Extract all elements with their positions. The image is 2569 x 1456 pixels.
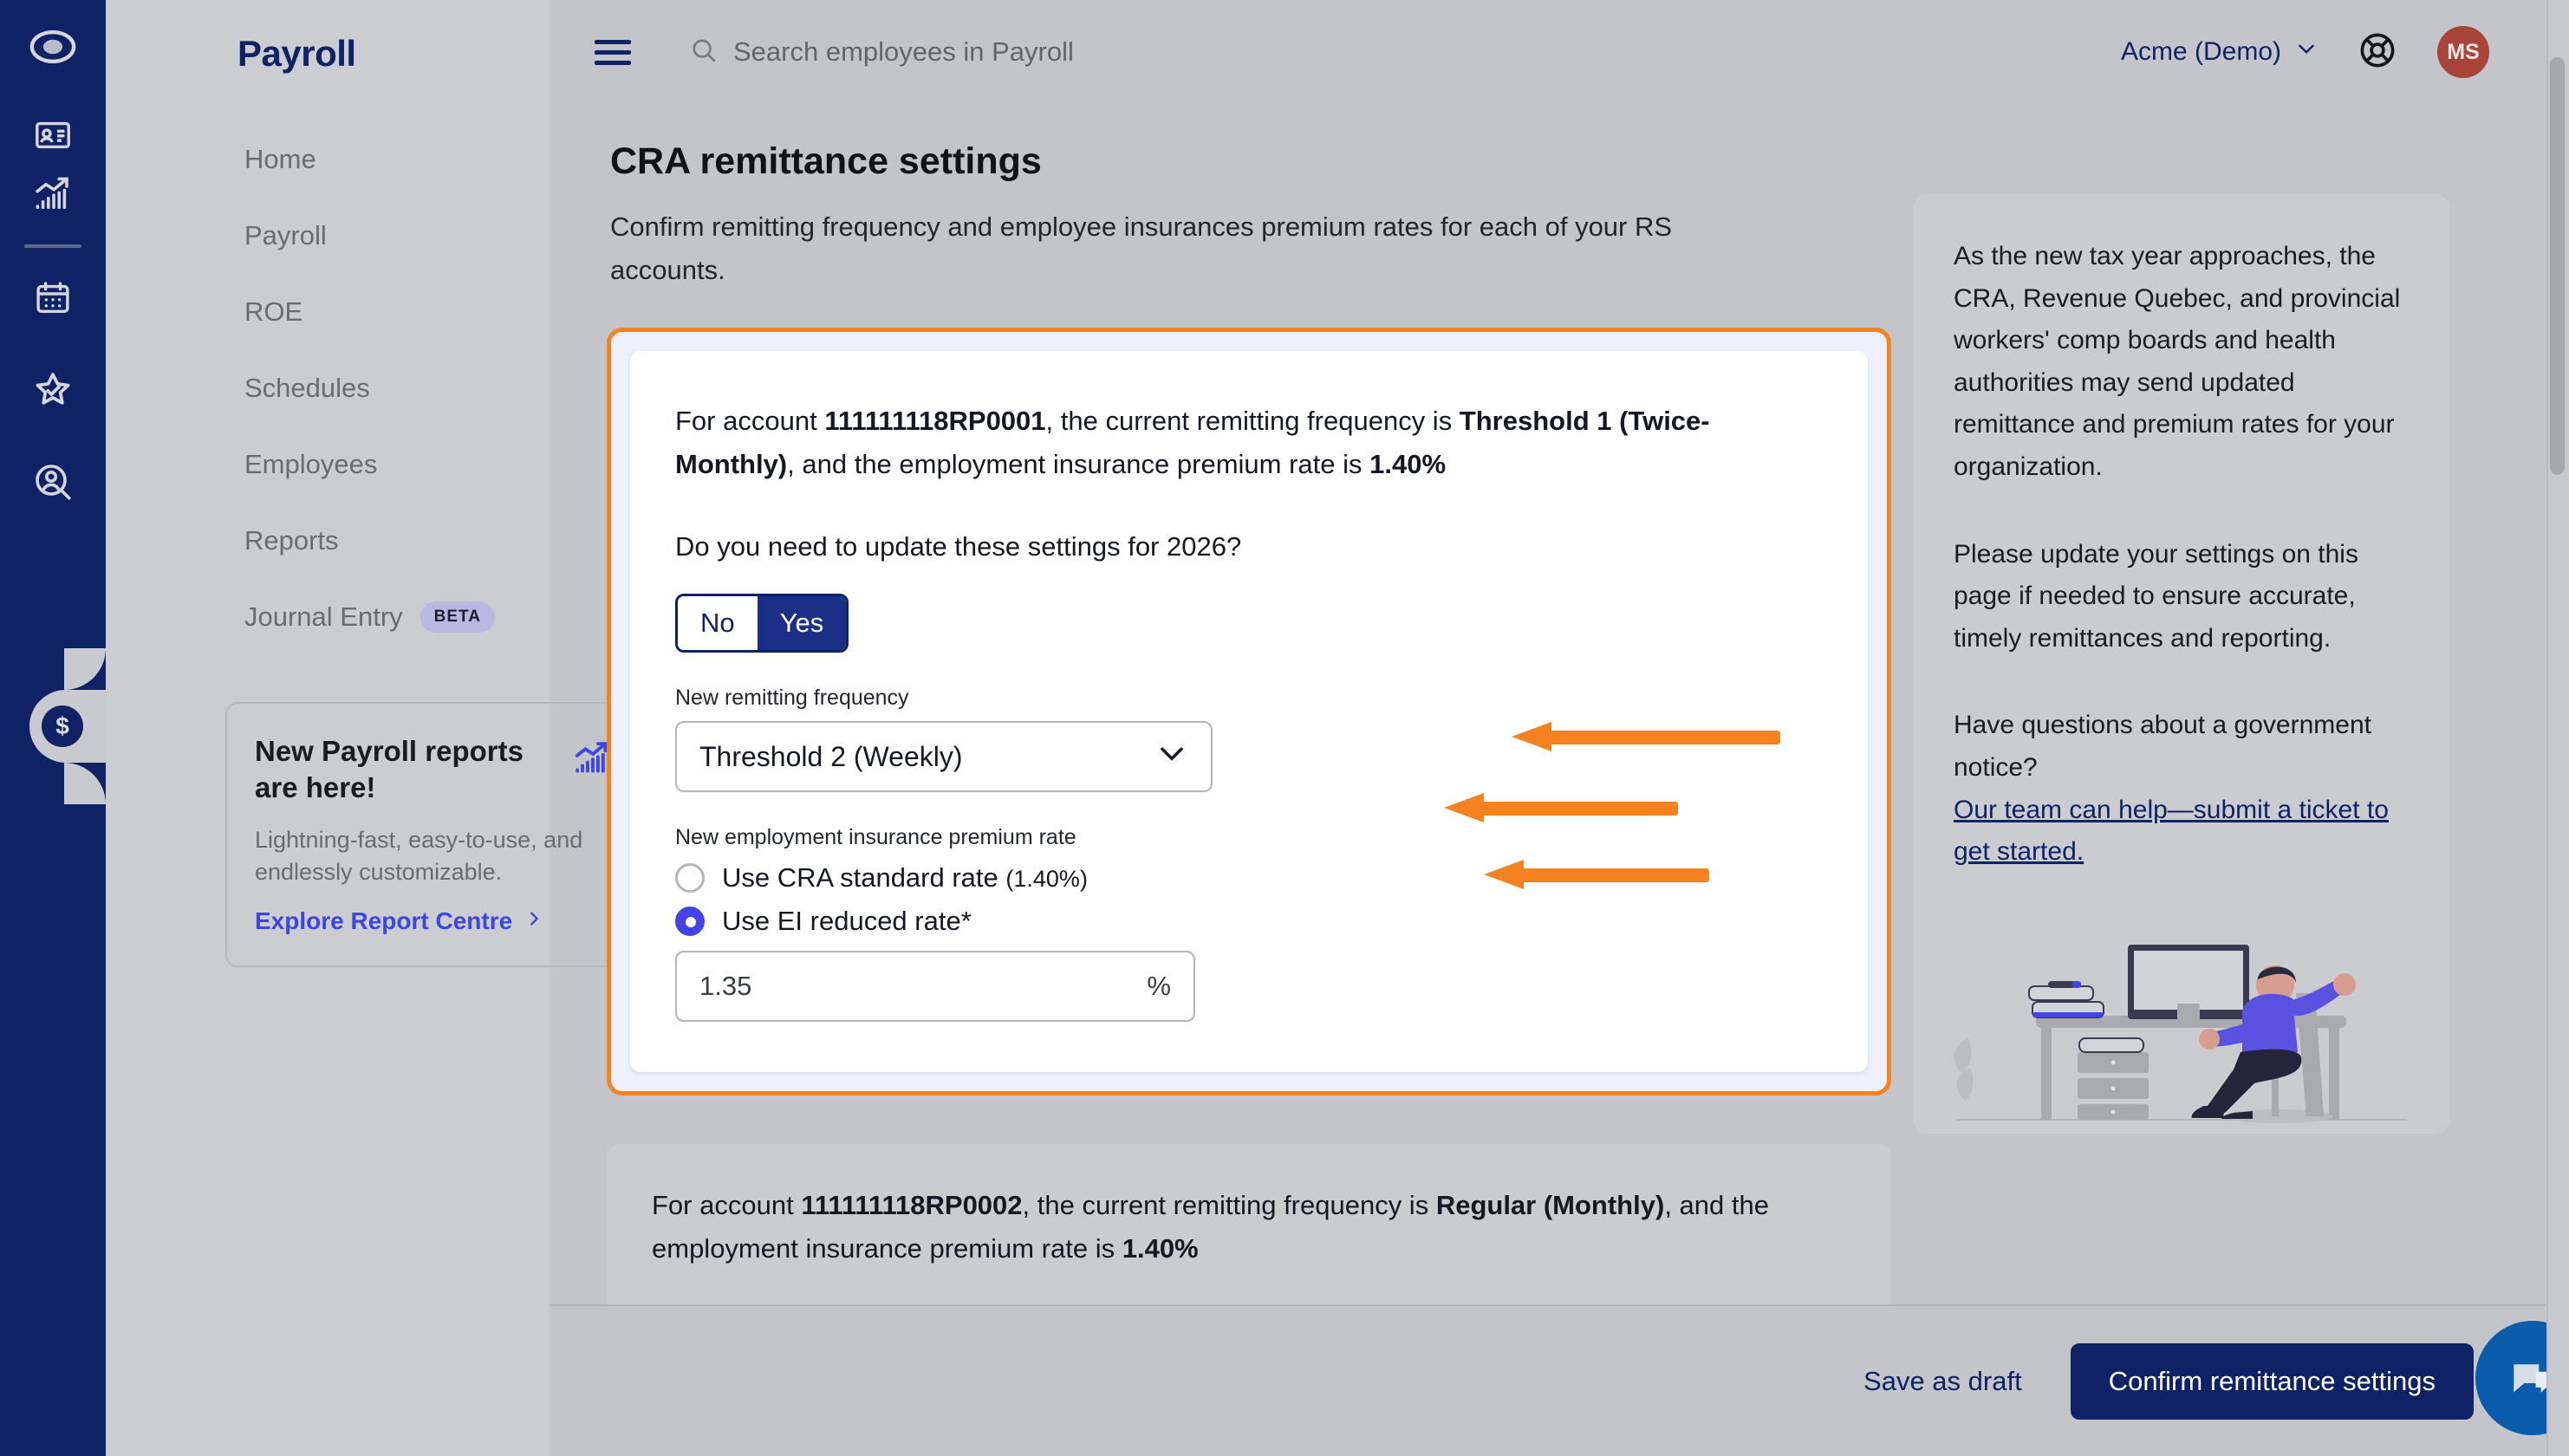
beta-badge: BETA	[420, 601, 495, 633]
selected-frequency-value: Threshold 2 (Weekly)	[699, 741, 963, 773]
account-1-summary: For account 111111118RP0001, the current…	[675, 400, 1823, 486]
rate-input-value: 1.35	[699, 971, 751, 1002]
sidebar-item-reports[interactable]: Reports	[106, 503, 550, 579]
confirm-remittance-settings-button[interactable]: Confirm remittance settings	[2071, 1343, 2474, 1420]
rail-divider	[24, 244, 81, 248]
bottom-action-bar: Save as draft Confirm remittance setting…	[550, 1304, 2569, 1456]
sidebar-item-label: Reports	[244, 525, 339, 556]
search-placeholder: Search employees in Payroll	[733, 36, 1074, 68]
radio-label-rate: (1.40%)	[1005, 866, 1088, 892]
sidebar-nav-list: Home Payroll ROE Schedules Employees Rep…	[106, 121, 550, 655]
info-panel: As the new tax year approaches, the CRA,…	[1914, 194, 2449, 1134]
current-frequency: Regular (Monthly)	[1436, 1190, 1665, 1220]
star-badge-icon[interactable]	[0, 361, 106, 419]
intro-prefix: For account	[675, 406, 824, 436]
scrollbar-thumb[interactable]	[2550, 57, 2565, 475]
secondary-sidebar: Payroll Home Payroll ROE Schedules Emplo…	[106, 0, 550, 1456]
intro-mid: , the current remitting frequency is	[1023, 1190, 1436, 1220]
current-rate: 1.40%	[1369, 449, 1446, 479]
sidebar-item-label: Payroll	[244, 220, 327, 251]
search-icon	[690, 36, 718, 68]
annotation-arrow-cra-rate	[1444, 793, 1678, 822]
dollar-icon[interactable]: $	[42, 705, 83, 747]
premium-rate-field-label: New employment insurance premium rate	[675, 825, 1823, 850]
toggle-option-yes[interactable]: Yes	[758, 596, 847, 650]
avatar[interactable]: MS	[2437, 26, 2489, 78]
info-paragraph-1: As the new tax year approaches, the CRA,…	[1954, 236, 2410, 489]
hamburger-icon[interactable]	[595, 34, 631, 71]
sidebar-item-schedules[interactable]: Schedules	[106, 350, 550, 426]
info-paragraph-2: Please update your settings on this page…	[1954, 534, 2410, 660]
update-settings-toggle[interactable]: No Yes	[675, 594, 849, 653]
sidebar-item-label: Home	[244, 144, 316, 175]
account-card-1: For account 111111118RP0001, the current…	[630, 351, 1868, 1072]
account-number: 111111118RP0001	[824, 406, 1045, 436]
person-at-desk-illustration	[1954, 900, 2410, 1134]
id-card-icon[interactable]	[0, 106, 106, 165]
calendar-icon[interactable]	[0, 269, 106, 328]
account-2-summary: For account 111111118RP0002, the current…	[652, 1184, 1846, 1271]
sidebar-item-payroll[interactable]: Payroll	[106, 198, 550, 274]
radio-ei-reduced-label: Use EI reduced rate*	[722, 906, 972, 937]
intro-mid2: , and the employment insurance premium r…	[787, 449, 1369, 479]
account-card-1-highlight: For account 111111118RP0001, the current…	[607, 328, 1891, 1095]
org-switcher[interactable]: Acme (Demo)	[2121, 37, 2318, 67]
radio-cra-standard-label: Use CRA standard rate (1.40%)	[722, 862, 1088, 894]
sidebar-item-label: Journal Entry	[244, 601, 403, 633]
topbar-right: Acme (Demo) MS	[2121, 26, 2569, 78]
ei-reduced-rate-input[interactable]: 1.35 %	[675, 951, 1195, 1022]
annotation-arrow-frequency	[1512, 722, 1780, 751]
icon-rail: $	[0, 0, 106, 1456]
radio-cra-standard[interactable]	[675, 863, 705, 893]
toggle-option-no[interactable]: No	[678, 596, 758, 650]
page-scrollbar[interactable]	[2546, 0, 2569, 1456]
percent-suffix: %	[1147, 971, 1171, 1002]
account-card-2[interactable]: For account 111111118RP0002, the current…	[607, 1144, 1891, 1304]
user-search-icon[interactable]	[0, 452, 106, 511]
current-rate: 1.40%	[1122, 1233, 1199, 1264]
account-number: 111111118RP0002	[801, 1190, 1022, 1220]
app-root: $ Payroll Home Payroll ROE Schedules Emp…	[0, 0, 2569, 1456]
sidebar-item-journal-entry[interactable]: Journal Entry BETA	[106, 579, 550, 655]
sidebar-item-roe[interactable]: ROE	[106, 274, 550, 350]
circle-target-icon[interactable]	[25, 19, 81, 75]
new-remitting-frequency-select[interactable]: Threshold 2 (Weekly)	[675, 721, 1213, 792]
annotation-arrow-rate-input	[1484, 860, 1709, 889]
notch-top	[64, 648, 106, 690]
top-bar: Search employees in Payroll Acme (Demo) …	[550, 0, 2569, 104]
page-title: CRA remittance settings	[610, 140, 2540, 183]
intro-prefix: For account	[652, 1190, 801, 1220]
lifebuoy-icon[interactable]	[2358, 30, 2397, 75]
notch-bottom	[64, 763, 106, 804]
trending-chart-icon[interactable]	[0, 165, 106, 224]
page-description: Confirm remitting frequency and employee…	[610, 205, 1789, 292]
radio-option-ei-reduced[interactable]: Use EI reduced rate*	[675, 906, 1823, 937]
chevron-down-icon	[2295, 37, 2318, 67]
sidebar-title: Payroll	[237, 33, 550, 75]
info-question: Have questions about a government notice…	[1954, 711, 2371, 782]
chevron-down-icon	[1155, 737, 1188, 777]
radio-label-text: Use CRA standard rate	[722, 862, 1005, 893]
intro-mid: , the current remitting frequency is	[1046, 406, 1460, 436]
promo-link-label: Explore Report Centre	[255, 907, 512, 935]
search-input[interactable]: Search employees in Payroll	[690, 36, 1074, 68]
save-as-draft-button[interactable]: Save as draft	[1863, 1366, 2022, 1397]
chevron-right-icon	[524, 907, 543, 936]
org-name: Acme (Demo)	[2121, 37, 2281, 67]
radio-ei-reduced[interactable]	[675, 907, 705, 936]
sidebar-item-payroll-active[interactable]: $	[0, 690, 106, 763]
info-paragraph-3: Have questions about a government notice…	[1954, 705, 2410, 873]
sidebar-item-employees[interactable]: Employees	[106, 426, 550, 503]
frequency-field-label: New remitting frequency	[675, 686, 1823, 711]
sidebar-item-label: Employees	[244, 449, 377, 480]
update-question: Do you need to update these settings for…	[675, 531, 1823, 562]
sidebar-item-label: ROE	[244, 296, 302, 328]
promo-title: New Payroll reports are here!	[255, 733, 541, 805]
sidebar-item-label: Schedules	[244, 373, 370, 404]
sidebar-item-home[interactable]: Home	[106, 121, 550, 198]
submit-ticket-link[interactable]: Our team can help—submit a ticket to get…	[1954, 796, 2389, 867]
